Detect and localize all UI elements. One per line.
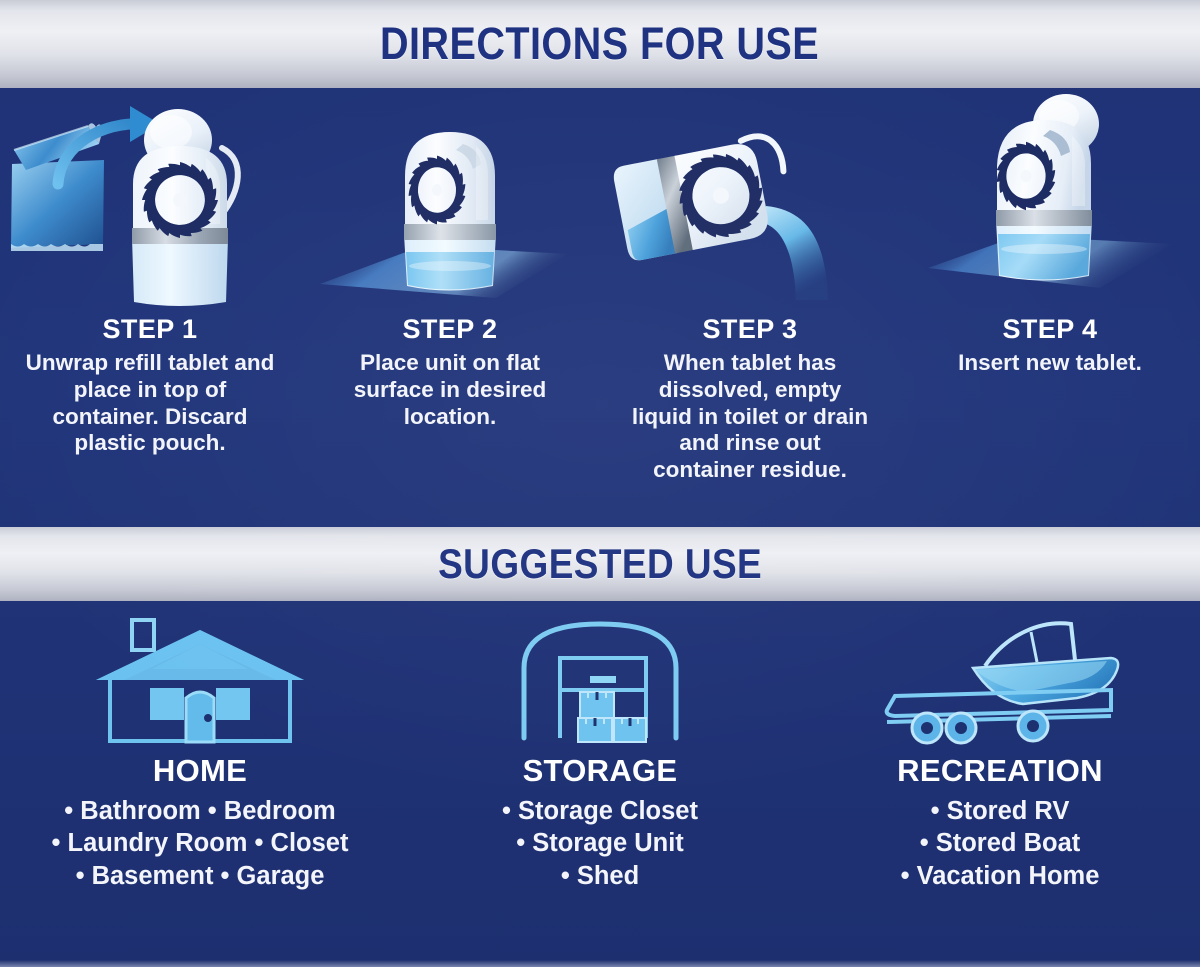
- use-category-recreation: RECREATION • Stored RV • Stored Boat • V…: [800, 601, 1200, 967]
- directions-header-band: DIRECTIONS FOR USE: [0, 0, 1200, 88]
- directions-section: STEP 1 Unwrap refill tablet and place in…: [0, 88, 1200, 527]
- use-storage-title: STORAGE: [523, 755, 678, 786]
- step-item-4: STEP 4 Insert new tablet.: [900, 88, 1200, 527]
- tablet-pouch-unwrap-icon: [0, 88, 300, 306]
- recreation-illustration: [875, 601, 1125, 751]
- step-3-illustration: [600, 88, 900, 306]
- bottom-edge-sheen: [0, 960, 1200, 967]
- list-item: • Laundry Room • Closet: [52, 827, 349, 859]
- list-item: • Stored RV: [901, 795, 1100, 827]
- use-home-list: • Bathroom • Bedroom • Laundry Room • Cl…: [52, 795, 349, 892]
- product-instructions-panel: DIRECTIONS FOR USE: [0, 0, 1200, 967]
- step-1-text: Unwrap refill tablet and place in top of…: [24, 350, 276, 457]
- list-item: • Vacation Home: [901, 860, 1100, 892]
- list-item: • Basement • Garage: [52, 860, 349, 892]
- step-item-1: STEP 1 Unwrap refill tablet and place in…: [0, 88, 300, 527]
- directions-heading: DIRECTIONS FOR USE: [380, 18, 819, 70]
- list-item: • Bathroom • Bedroom: [52, 795, 349, 827]
- list-item: • Storage Unit: [502, 827, 698, 859]
- storage-shed-icon: [510, 606, 690, 746]
- boat-trailer-icon: [875, 606, 1125, 746]
- suggested-use-header-band: SUGGESTED USE: [0, 527, 1200, 601]
- insert-new-tablet-icon: [900, 88, 1200, 306]
- step-item-2: STEP 2 Place unit on flat surface in des…: [300, 88, 600, 527]
- suggested-use-section: HOME • Bathroom • Bedroom • Laundry Room…: [0, 601, 1200, 967]
- step-2-label: STEP 2: [403, 316, 498, 343]
- use-recreation-list: • Stored RV • Stored Boat • Vacation Hom…: [901, 795, 1100, 892]
- use-categories-row: HOME • Bathroom • Bedroom • Laundry Room…: [0, 601, 1200, 967]
- step-2-illustration: [300, 88, 600, 306]
- use-storage-list: • Storage Closet • Storage Unit • Shed: [502, 795, 698, 892]
- unit-pouring-liquid-icon: [600, 88, 900, 306]
- house-icon: [88, 606, 312, 746]
- use-home-title: HOME: [153, 755, 247, 786]
- use-category-storage: STORAGE • Storage Closet • Storage Unit …: [400, 601, 800, 967]
- home-illustration: [88, 601, 312, 751]
- step-4-illustration: [900, 88, 1200, 306]
- suggested-use-heading: SUGGESTED USE: [438, 540, 762, 588]
- use-recreation-title: RECREATION: [897, 755, 1103, 786]
- step-2-text: Place unit on flat surface in desired lo…: [343, 350, 558, 430]
- step-item-3: STEP 3 When tablet has dissolved, empty …: [600, 88, 900, 527]
- steps-row: STEP 1 Unwrap refill tablet and place in…: [0, 88, 1200, 527]
- use-category-home: HOME • Bathroom • Bedroom • Laundry Room…: [0, 601, 400, 967]
- list-item: • Stored Boat: [901, 827, 1100, 859]
- storage-illustration: [510, 601, 690, 751]
- list-item: • Shed: [502, 860, 698, 892]
- step-1-label: STEP 1: [103, 316, 198, 343]
- list-item: • Storage Closet: [502, 795, 698, 827]
- step-3-label: STEP 3: [703, 316, 798, 343]
- step-4-text: Insert new tablet.: [958, 350, 1142, 377]
- step-1-illustration: [0, 88, 300, 306]
- step-4-label: STEP 4: [1003, 316, 1098, 343]
- step-3-text: When tablet has dissolved, empty liquid …: [626, 350, 874, 484]
- unit-on-surface-icon: [300, 88, 600, 306]
